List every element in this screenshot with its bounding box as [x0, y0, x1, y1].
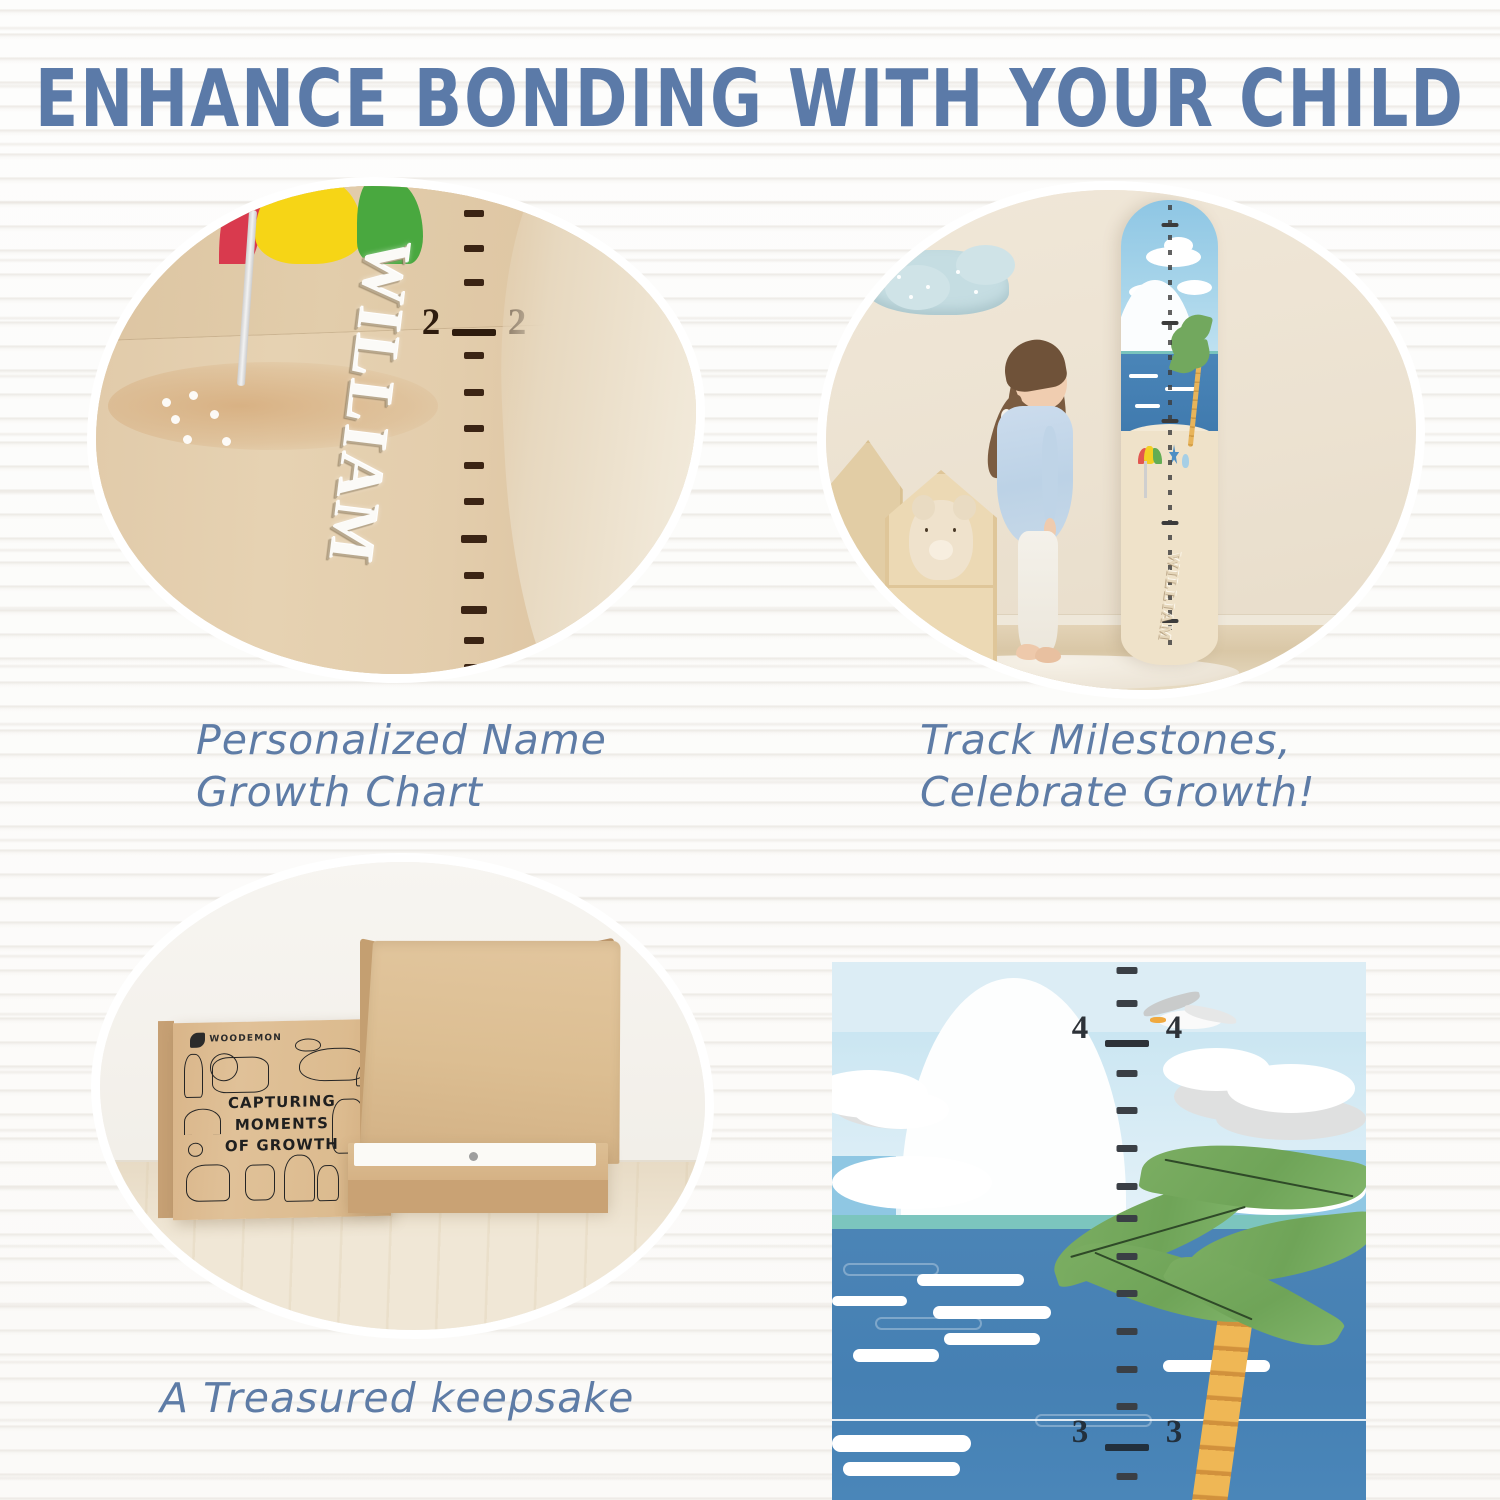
teddy-bear-eye: [953, 528, 956, 532]
ruler-tick: [464, 210, 484, 217]
seashell-graphic: [1182, 454, 1189, 467]
ruler-tick: [1116, 1473, 1137, 1480]
artwork-cloud: [1227, 1064, 1355, 1112]
ruler-tick: [1116, 1070, 1137, 1077]
artwork-wave: [1129, 374, 1158, 378]
ruler-tick-major: [1161, 223, 1178, 227]
brand-logo: WOODEMON: [190, 1031, 282, 1048]
panel-track-milestones: WILLIAM: [826, 190, 1416, 690]
ruler-tick: [1116, 1403, 1137, 1410]
ruler-number-bar: [452, 329, 496, 336]
caption-track-milestones: Track Milestones, Celebrate Growth!: [920, 714, 1500, 819]
ruler-tick: [1116, 1000, 1137, 1007]
ruler-tick: [1116, 1183, 1137, 1190]
doodle-cat: [244, 1165, 274, 1201]
doodle-house: [186, 1164, 230, 1202]
dog-spot: [858, 645, 872, 658]
cloud-dot: [897, 275, 901, 279]
shelf-divider: [885, 585, 997, 588]
artwork-wave-outline: [843, 1263, 939, 1276]
caption-line: Growth Chart: [196, 766, 816, 818]
artwork-cloud: [832, 1156, 992, 1210]
ruler-tick: [464, 498, 484, 505]
ruler-number-bar: [1105, 1444, 1149, 1451]
caption-personalized-name-chart: Personalized Name Growth Chart: [196, 714, 816, 819]
toy-food: [847, 583, 865, 594]
caption-line: Celebrate Growth!: [920, 766, 1500, 818]
artwork-wave: [843, 1462, 960, 1476]
teddy-bear-muzzle: [929, 540, 953, 560]
ruler-number-bar: [1105, 1040, 1149, 1047]
cloud-dot: [909, 295, 913, 299]
sand-dot: [189, 391, 198, 400]
artwork-wave: [1135, 404, 1160, 408]
ruler-tick: [464, 637, 484, 644]
ruler-tick: [1116, 1215, 1137, 1222]
ruler-tick-major: [461, 535, 487, 543]
doodle-cactus: [183, 1054, 203, 1098]
ruler-tick-major: [461, 606, 487, 614]
ruler-tick: [1116, 1328, 1137, 1335]
ruler-tick: [464, 389, 484, 396]
panel-artwork-closeup: 4 4 3 3: [832, 962, 1366, 1500]
cloud-plush-bump: [956, 245, 1015, 285]
teddy-bear-ear: [912, 495, 936, 520]
ruler-number-row-4: 4 4: [1055, 1010, 1199, 1047]
artwork-wave: [944, 1333, 1040, 1345]
ruler-tick: [1116, 1107, 1137, 1114]
ruler-scale: 4 4 3 3: [1067, 962, 1187, 1500]
ruler-tick: [464, 425, 484, 432]
cloud-dot: [956, 270, 960, 274]
child-figure: [985, 340, 1103, 670]
panel-4-scene: 4 4 3 3: [832, 962, 1366, 1500]
artwork-wave-outline: [875, 1317, 982, 1330]
panel-treasured-keepsake: WOODEMON CAPTURING MOMENTS OF GROWTH: [100, 862, 705, 1330]
ruler-tick-major: [1161, 321, 1178, 325]
panel-3-scene: WOODEMON CAPTURING MOMENTS OF GROWTH: [100, 862, 705, 1330]
engraved-name-william: WILLIAM: [1154, 551, 1183, 643]
ruler-tick-major: [1161, 521, 1178, 525]
ruler-number-left: 3: [1055, 1414, 1105, 1451]
brand-name: WOODEMON: [209, 1033, 282, 1045]
doodle-dinosaur: [299, 1047, 364, 1082]
ruler-number-left: 4: [1055, 1010, 1105, 1047]
ruler-tick: [464, 245, 484, 252]
artwork-wave: [853, 1349, 938, 1362]
teddy-bear-eye: [925, 528, 928, 532]
caption-treasured-keepsake: A Treasured keepsake: [160, 1372, 780, 1424]
caption-line: A Treasured keepsake: [160, 1372, 780, 1424]
ruler-tick: [464, 572, 484, 579]
doodle-palm: [284, 1154, 314, 1202]
child-foot: [1035, 647, 1061, 664]
umbrella-panel-yellow: [255, 186, 363, 264]
child-leggings: [1018, 531, 1058, 650]
ruler-tick: [464, 279, 484, 286]
beach-umbrella-pole: [1144, 461, 1147, 498]
ruler-tick: [464, 352, 484, 359]
ruler-tick: [464, 462, 484, 469]
surfboard-growth-chart: WILLIAM: [1121, 200, 1218, 665]
cloud-dot: [974, 290, 978, 294]
page-title: ENHANCE BONDING WITH YOUR CHILD: [0, 52, 1500, 145]
child-dress: [997, 406, 1073, 545]
artwork-cloud: [853, 1091, 949, 1129]
ruler-tick: [1116, 1145, 1137, 1152]
panel-1-scene: 2 2 WILLIAM: [96, 186, 696, 674]
shipping-box-lid: [359, 941, 621, 1164]
artwork-wave: [832, 1296, 907, 1307]
sand-dot: [183, 435, 192, 444]
woodemon-logo-icon: [190, 1033, 205, 1048]
shipping-box-front-wall: [348, 1180, 608, 1213]
ruler-tick: [1116, 1253, 1137, 1260]
ruler-number-right: 4: [1149, 1010, 1199, 1047]
doodle-boy: [316, 1165, 338, 1201]
ruler-tick-major: [1161, 419, 1178, 423]
ruler-tick: [1116, 967, 1137, 974]
caption-line: Personalized Name: [196, 714, 816, 766]
product-box-side: [158, 1021, 174, 1218]
ruler-number-row-3: 3 3: [1055, 1414, 1199, 1451]
ruler-tick: [464, 664, 484, 671]
ruler-tick: [1116, 1366, 1137, 1373]
caption-line: Track Milestones,: [920, 714, 1500, 766]
cloud-plush-bump: [885, 265, 950, 310]
ruler-number-right: 3: [1149, 1414, 1199, 1451]
panel-2-scene: WILLIAM: [826, 190, 1416, 690]
ruler-tick: [1116, 1290, 1137, 1297]
panel-personalized-name-chart: 2 2 WILLIAM: [96, 186, 696, 674]
artwork-wave: [832, 1435, 971, 1451]
